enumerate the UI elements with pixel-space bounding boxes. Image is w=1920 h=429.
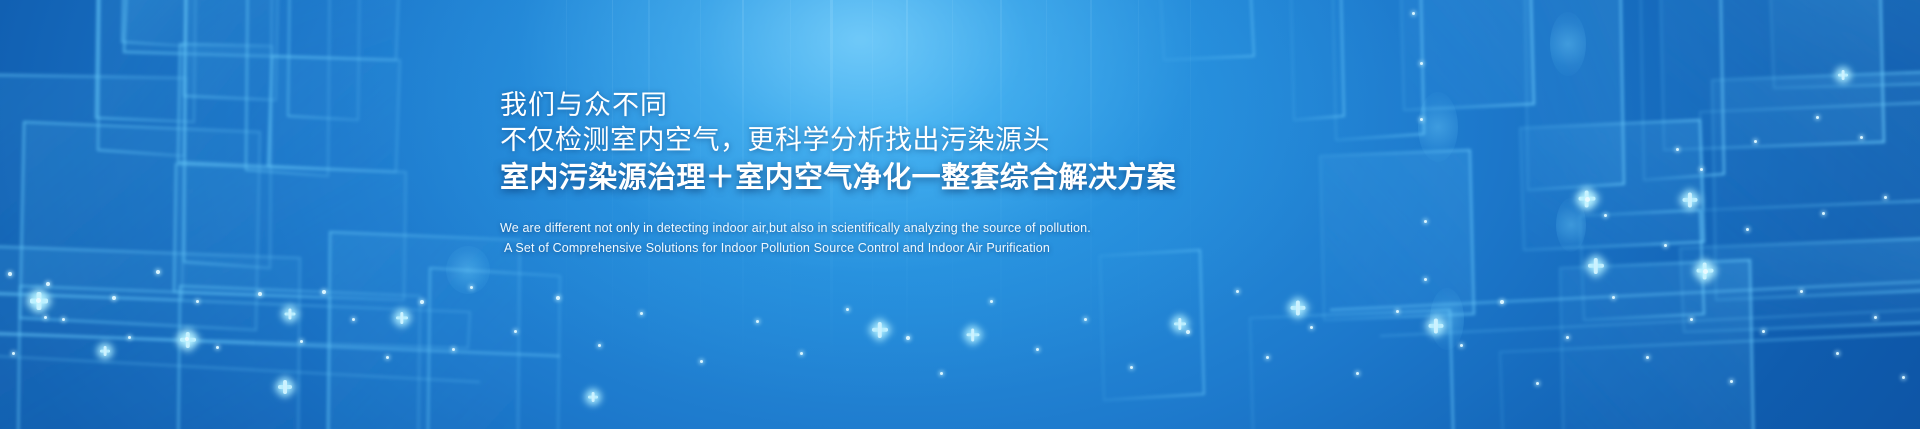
subtitle-line-2: A Set of Comprehensive Solutions for Ind… bbox=[500, 238, 1500, 258]
hero-copy: 我们与众不同 不仅检测室内空气，更科学分析找出污染源头 室内污染源治理＋室内空气… bbox=[500, 88, 1500, 258]
hero-banner: 我们与众不同 不仅检测室内空气，更科学分析找出污染源头 室内污染源治理＋室内空气… bbox=[0, 0, 1920, 429]
headline-line-2: 不仅检测室内空气，更科学分析找出污染源头 bbox=[500, 122, 1500, 158]
subtitle-block: We are different not only in detecting i… bbox=[500, 218, 1500, 258]
subtitle-line-1: We are different not only in detecting i… bbox=[500, 218, 1500, 238]
headline-line-1: 我们与众不同 bbox=[500, 88, 1500, 122]
geometry-left bbox=[0, 0, 560, 429]
headline-line-3: 室内污染源治理＋室内空气净化一整套综合解决方案 bbox=[500, 158, 1500, 198]
